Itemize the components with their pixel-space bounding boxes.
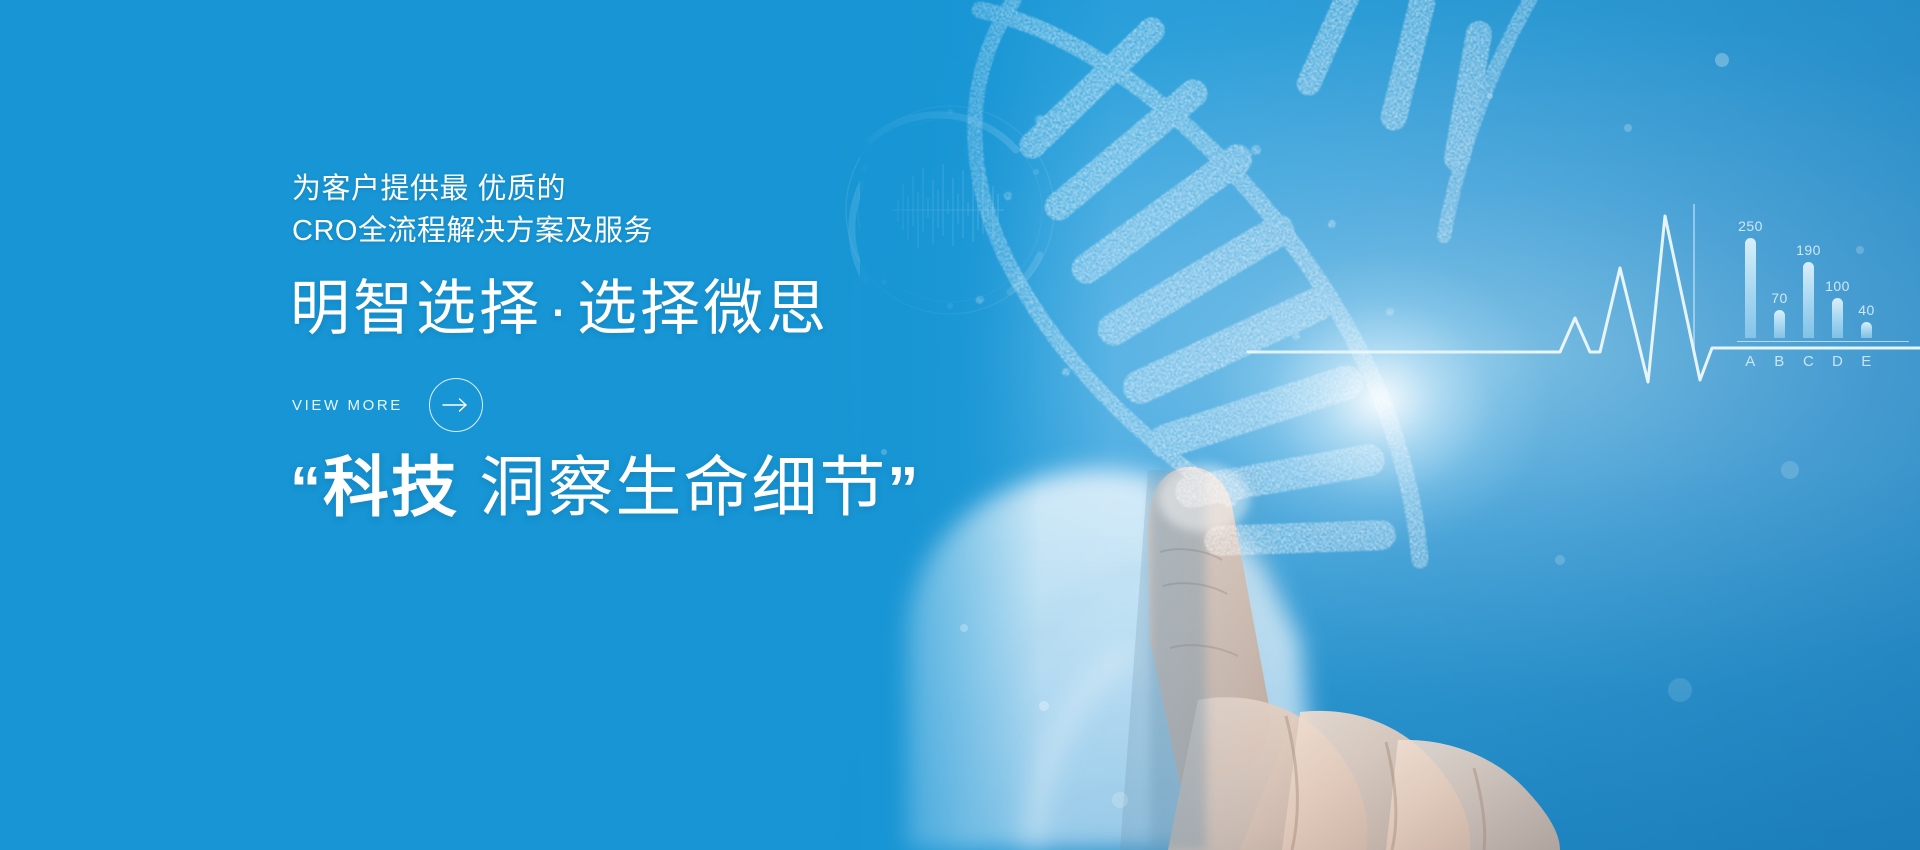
headline-right: 选择微思 xyxy=(577,275,829,342)
quote-open-mark: “ xyxy=(290,455,323,524)
banner-headline: 明智选择·选择微思 xyxy=(290,274,829,345)
quote-light-text: 洞察生命细节 xyxy=(459,450,887,524)
view-more-button[interactable]: VIEW MORE xyxy=(292,378,483,432)
ecg-waveform-icon xyxy=(1248,216,1920,382)
subtitle-line-2: CRO全流程解决方案及服务 xyxy=(292,210,653,252)
headline-left: 明智选择 xyxy=(290,275,542,342)
arrow-right-icon xyxy=(442,397,470,413)
banner-subtitle: 为客户提供最 优质的 CRO全流程解决方案及服务 xyxy=(292,168,653,252)
view-more-circle[interactable] xyxy=(429,378,483,432)
subtitle-line-1: 为客户提供最 优质的 xyxy=(292,173,566,205)
headline-separator: · xyxy=(542,275,577,342)
view-more-label: VIEW MORE xyxy=(292,397,403,414)
quote-close-mark: ” xyxy=(887,455,920,524)
hero-banner: 250 70 190 100 40 A B C xyxy=(0,0,1920,850)
banner-quote: “科技 洞察生命细节” xyxy=(290,448,920,527)
quote-strong-text: 科技 xyxy=(323,450,459,524)
banner-copy: 为客户提供最 优质的 CRO全流程解决方案及服务 明智选择·选择微思 VIEW … xyxy=(290,0,1110,850)
